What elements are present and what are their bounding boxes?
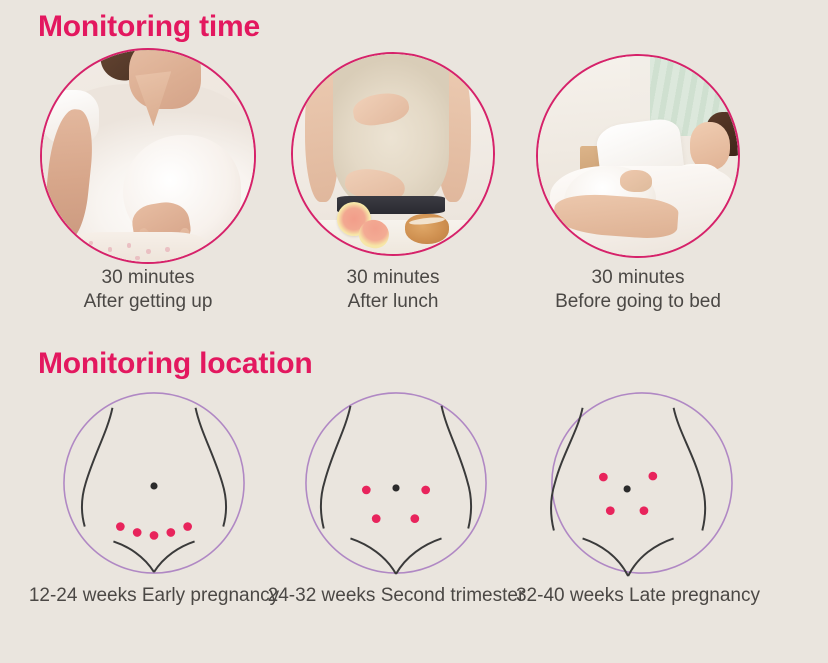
pregnant-woman-standing-hand-on-belly-photo (40, 48, 256, 264)
torso-right-outline (442, 406, 472, 529)
monitoring-point-marker (648, 472, 657, 481)
monitoring-point-marker (410, 514, 419, 523)
torso-right-outline (674, 408, 706, 531)
monitoring-location-caption-1: 24-32 weeks Second trimester (258, 584, 534, 608)
caption-line-1: 12-24 weeks (29, 585, 137, 606)
monitoring-time-heading: Monitoring time (38, 12, 260, 42)
monitoring-point-marker (133, 528, 142, 537)
monitoring-time-caption-1: 30 minutes After lunch (255, 266, 531, 315)
torso-left-outline (321, 406, 351, 529)
navel-marker (624, 485, 631, 492)
torso-diagram-early-pregnancy (59, 388, 249, 578)
pregnant-woman-resting-in-bed-photo (536, 54, 740, 258)
infographic-page: Monitoring time (0, 0, 828, 663)
diagram-outer-circle (306, 393, 486, 573)
caption-line-2: After getting up (10, 290, 286, 314)
caption-line-2: Before going to bed (500, 290, 776, 314)
groin-right-line (396, 538, 442, 574)
torso-diagram-late-pregnancy (543, 388, 733, 578)
monitoring-time-item-0: 30 minutes After getting up (10, 48, 286, 278)
monitoring-location-caption-0: 12-24 weeks Early pregnancy (16, 584, 292, 608)
monitoring-point-marker (362, 486, 371, 495)
caption-line-1: 30 minutes (10, 266, 286, 290)
monitoring-time-caption-0: 30 minutes After getting up (10, 266, 286, 315)
monitoring-point-group (599, 472, 657, 515)
monitoring-point-marker (421, 486, 430, 495)
caption-line-1: 30 minutes (500, 266, 776, 290)
caption-line-1: 30 minutes (255, 266, 531, 290)
monitoring-point-marker (150, 531, 159, 540)
navel-marker (392, 484, 399, 491)
monitoring-point-marker (599, 473, 608, 482)
monitoring-point-marker (166, 528, 175, 537)
groin-right-line (154, 541, 195, 572)
monitoring-point-marker (116, 522, 125, 531)
navel-marker (150, 482, 157, 489)
monitoring-location-item-1: 24-32 weeks Second trimester (258, 388, 534, 663)
torso-right-outline (196, 408, 227, 527)
caption-line-1: 32-40 weeks (516, 585, 624, 606)
groin-left-line (113, 541, 154, 572)
monitoring-location-caption-2: 32-40 weeks Late pregnancy (500, 584, 776, 608)
monitoring-point-marker (372, 514, 381, 523)
torso-left-outline (551, 408, 583, 531)
torso-left-outline (82, 408, 113, 527)
monitoring-location-heading: Monitoring location (38, 349, 313, 379)
pregnant-woman-with-grapefruit-and-pastry-photo (291, 52, 495, 256)
caption-line-2: After lunch (255, 290, 531, 314)
torso-diagram-second-trimester (301, 388, 491, 578)
monitoring-time-caption-2: 30 minutes Before going to bed (500, 266, 776, 315)
monitoring-point-marker (183, 522, 192, 531)
monitoring-time-item-2: 30 minutes Before going to bed (500, 48, 776, 278)
monitoring-location-item-0: 12-24 weeks Early pregnancy (16, 388, 292, 663)
caption-line-1: 24-32 weeks (268, 585, 376, 606)
monitoring-point-marker (606, 506, 615, 515)
monitoring-point-marker (640, 506, 649, 515)
monitoring-location-item-2: 32-40 weeks Late pregnancy (500, 388, 776, 663)
monitoring-location-diagram-row: 12-24 weeks Early pregnancy 24-32 weeks … (0, 388, 828, 663)
monitoring-time-photo-row: 30 minutes After getting up (0, 48, 828, 278)
monitoring-point-group (116, 522, 192, 540)
monitoring-time-item-1: 30 minutes After lunch (255, 48, 531, 278)
caption-line-2: Late pregnancy (629, 585, 760, 606)
groin-left-line (350, 538, 396, 574)
